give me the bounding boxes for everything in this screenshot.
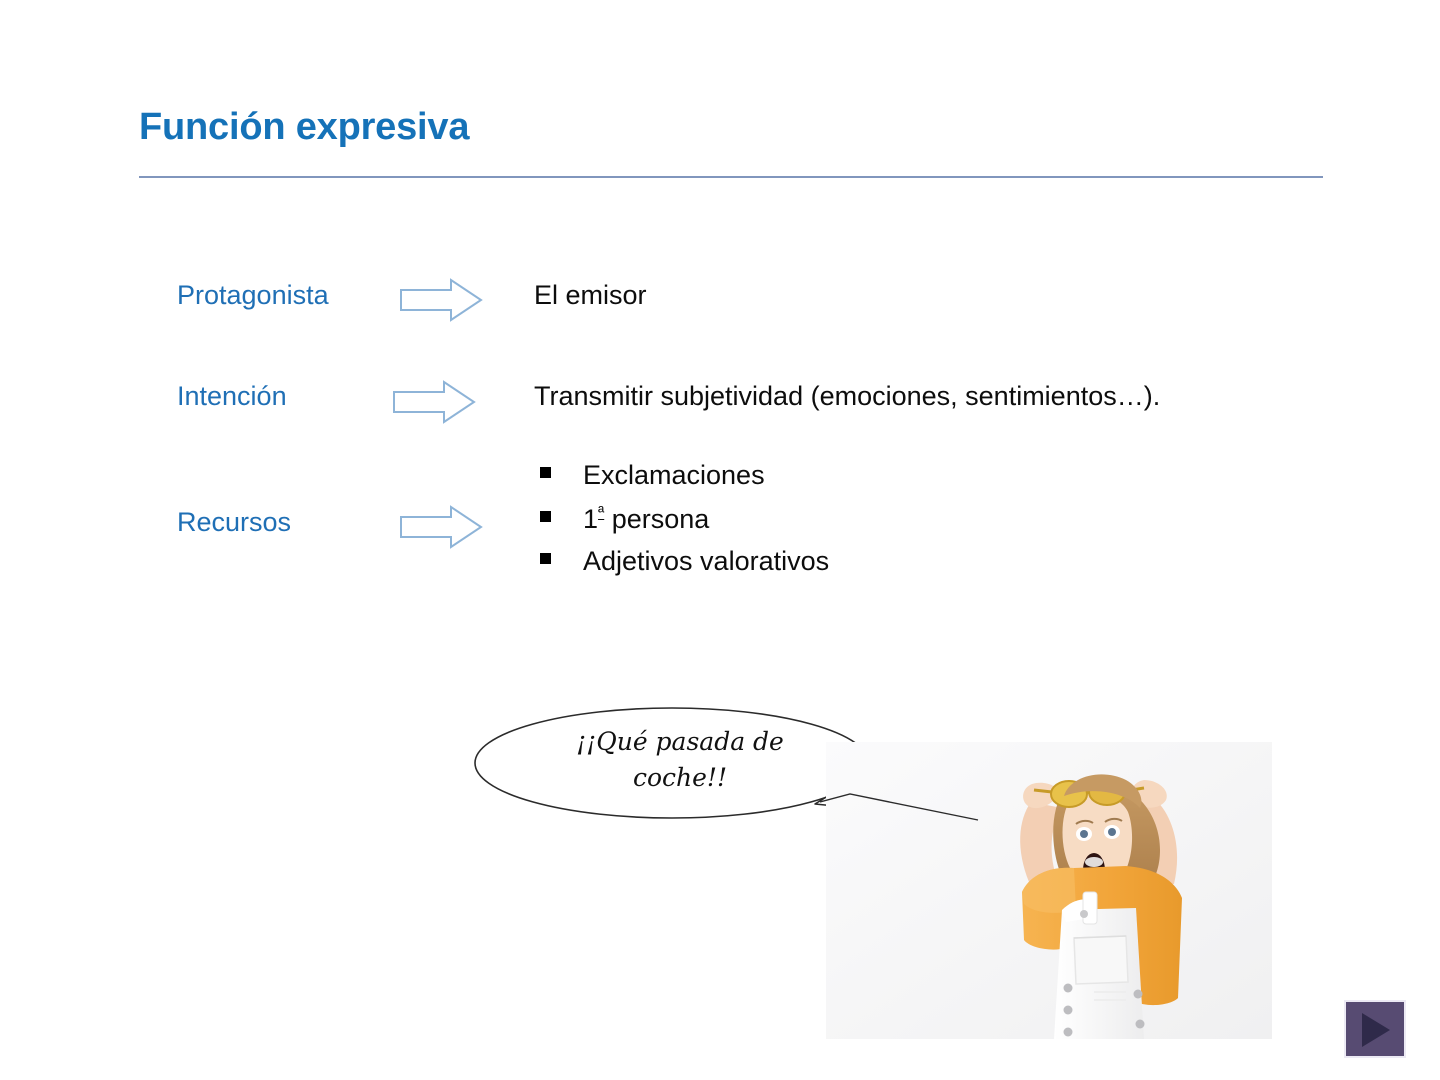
speech-bubble-tail xyxy=(820,780,1000,840)
list-item: Exclamaciones xyxy=(540,460,829,503)
row-text-protagonista: El emisor xyxy=(534,280,647,311)
row-label-recursos: Recursos xyxy=(177,507,291,538)
speech-bubble-line-1: ¡¡Qué pasada de xyxy=(530,724,830,760)
list-item-label: 1ª persona xyxy=(583,503,709,535)
speech-bubble-text: ¡¡Qué pasada de coche!! xyxy=(530,724,830,795)
page-title: Función expresiva xyxy=(139,106,469,149)
list-item-number: 1 xyxy=(583,504,598,534)
play-button[interactable] xyxy=(1344,1000,1406,1058)
square-bullet-icon xyxy=(540,511,551,522)
right-arrow-icon xyxy=(399,278,483,322)
list-item-word: persona xyxy=(604,504,709,534)
list-item-label: Exclamaciones xyxy=(583,460,765,491)
list-item-label: Adjetivos valorativos xyxy=(583,546,829,577)
row-text-intencion: Transmitir subjetividad (emociones, sent… xyxy=(534,381,1160,412)
speech-bubble-line-2: coche!! xyxy=(530,760,830,796)
play-triangle-icon xyxy=(1362,1013,1390,1047)
square-bullet-icon xyxy=(540,467,551,478)
square-bullet-icon xyxy=(540,553,551,564)
title-divider xyxy=(139,176,1323,178)
right-arrow-icon xyxy=(392,380,476,424)
row-label-protagonista: Protagonista xyxy=(177,280,329,311)
resources-bullet-list: Exclamaciones 1ª persona Adjetivos valor… xyxy=(540,460,829,589)
row-label-intencion: Intención xyxy=(177,381,287,412)
list-item: Adjetivos valorativos xyxy=(540,546,829,589)
right-arrow-icon xyxy=(399,505,483,549)
slide-canvas: Función expresiva Protagonista El emisor… xyxy=(0,0,1440,1080)
list-item: 1ª persona xyxy=(540,503,829,546)
